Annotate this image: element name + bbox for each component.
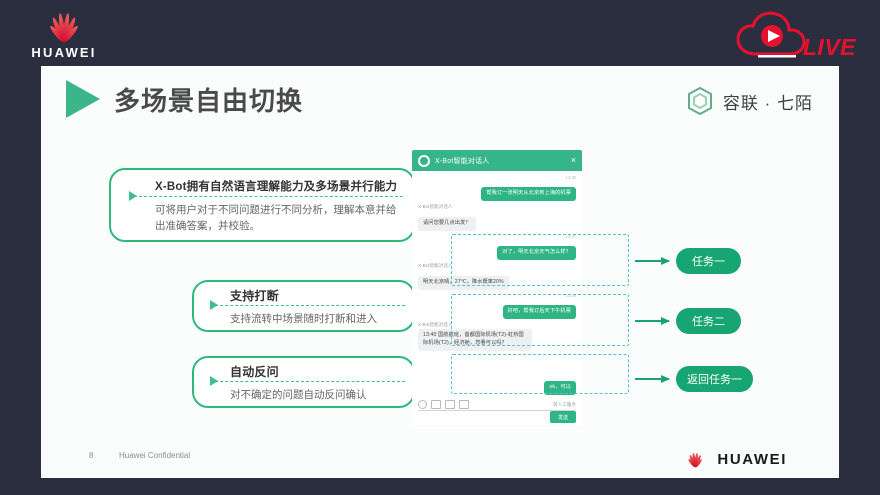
feature-card-1: X-Bot拥有自然语言理解能力及多场景并行能力 可将用户对于不同问题进行不同分析… bbox=[109, 168, 415, 242]
dashed-divider bbox=[210, 305, 405, 306]
image-icon[interactable] bbox=[431, 400, 441, 409]
emoji-icon[interactable] bbox=[418, 400, 427, 409]
message-timestamp: 13:37 bbox=[418, 234, 576, 239]
chat-title: X-Bot智能对话人 bbox=[435, 156, 571, 166]
chat-input-area: ok，可以 转人工服务 发送 bbox=[412, 371, 582, 425]
quick-reply-bubble: ok，可以 bbox=[544, 381, 576, 395]
flow-item-2: 任务二 bbox=[635, 308, 741, 334]
chat-message-bot: X-Bot智能对话人 明天北京晴，27℃，降水概率20% bbox=[418, 263, 576, 290]
slide-title-row: 多场景自由切换 bbox=[66, 80, 303, 118]
page-title: 多场景自由切换 bbox=[114, 81, 303, 118]
chat-header: X-Bot智能对话人 × bbox=[412, 150, 582, 171]
close-icon[interactable]: × bbox=[571, 156, 576, 165]
chat-message-bot: X-Bot智能对话人 13:40 国航航班，首都国际机场(T2)-虹桥国际机场(… bbox=[418, 322, 576, 351]
message-sender: X-Bot智能对话人 bbox=[418, 322, 576, 328]
task-pill: 返回任务一 bbox=[676, 366, 753, 392]
live-wordmark: LIVE bbox=[803, 34, 856, 61]
message-bubble: 好吧，帮我订后天下午机票 bbox=[503, 305, 576, 319]
chat-message-user: 13:37 对了，明天北京天气怎么样？ bbox=[418, 234, 576, 260]
huawei-logo-bottom: HUAWEI bbox=[680, 451, 787, 468]
feature-card-2: 支持打断 支持流转中场景随时打断和进入 bbox=[192, 280, 415, 332]
transfer-to-agent-link[interactable]: 转人工服务 bbox=[553, 402, 576, 408]
chat-mockup: X-Bot智能对话人 × 13:36 帮我订一张明天从北京到上海的机票 X-Bo… bbox=[412, 150, 582, 425]
video-icon[interactable] bbox=[459, 400, 469, 409]
chat-message-user: 13:38 好吧，帮我订后天下午机票 bbox=[418, 293, 576, 319]
quick-reply-row: ok，可以 bbox=[418, 375, 576, 395]
feature-body: 可将用户对于不同问题进行不同分析，理解本意并给出准确答案，并校验。 bbox=[155, 202, 397, 235]
confidential-note: Huawei Confidential bbox=[119, 451, 190, 460]
send-button[interactable]: 发送 bbox=[550, 411, 576, 423]
huawei-flower-icon bbox=[34, 12, 94, 42]
task-pill: 任务一 bbox=[676, 248, 741, 274]
message-bubble: 对了，明天北京天气怎么样？ bbox=[497, 246, 576, 260]
chat-message-list[interactable]: 13:36 帮我订一张明天从北京到上海的机票 X-Bot智能对话人 请问您要几点… bbox=[412, 171, 582, 371]
feature-body: 对不确定的问题自动反问确认 bbox=[230, 387, 397, 403]
feature-body: 支持流转中场景随时打断和进入 bbox=[230, 311, 397, 327]
message-sender: X-Bot智能对话人 bbox=[418, 263, 576, 269]
slide-deck: HUAWEI LIVE 多场景自由切换 容联 · 七陌 X-Bot拥有自然语言理… bbox=[0, 0, 880, 495]
bot-avatar-icon bbox=[418, 155, 430, 167]
flow-item-1: 任务一 bbox=[635, 248, 741, 274]
feature-title: X-Bot拥有自然语言理解能力及多场景并行能力 bbox=[155, 178, 397, 194]
message-timestamp: 13:36 bbox=[418, 175, 576, 180]
feature-title: 自动反问 bbox=[230, 363, 279, 380]
feature-card-3: 自动反问 对不确定的问题自动反问确认 bbox=[192, 356, 415, 408]
hexagon-logo-icon bbox=[686, 86, 714, 116]
dashed-divider bbox=[129, 196, 403, 197]
message-bubble: 13:40 国航航班，首都国际机场(T2)-虹桥国际机场(T2)，经济舱，您看可… bbox=[418, 329, 532, 351]
arrow-right-icon bbox=[635, 378, 669, 380]
live-logo: LIVE bbox=[728, 8, 858, 70]
chat-message-bot: X-Bot智能对话人 请问您要几点出发？ bbox=[418, 204, 576, 231]
message-timestamp: 13:38 bbox=[418, 293, 576, 298]
arrow-right-icon bbox=[635, 320, 669, 322]
feature-title: 支持打断 bbox=[230, 287, 279, 304]
arrow-right-icon bbox=[635, 260, 669, 262]
slide-canvas: 多场景自由切换 容联 · 七陌 X-Bot拥有自然语言理解能力及多场景并行能力 … bbox=[41, 66, 839, 478]
message-bubble: 明天北京晴，27℃，降水概率20% bbox=[418, 276, 509, 290]
chat-message-user: 13:36 帮我订一张明天从北京到上海的机票 bbox=[418, 175, 576, 201]
partner-brand-label: 容联 · 七陌 bbox=[723, 89, 813, 114]
message-bubble: 请问您要几点出发？ bbox=[418, 217, 476, 231]
triangle-bullet-icon bbox=[66, 80, 100, 118]
flow-item-3: 返回任务一 bbox=[635, 366, 753, 392]
message-bubble: 帮我订一张明天从北京到上海的机票 bbox=[481, 187, 576, 201]
partner-brand: 容联 · 七陌 bbox=[686, 86, 813, 116]
folder-icon[interactable] bbox=[445, 400, 455, 409]
message-sender: X-Bot智能对话人 bbox=[418, 204, 576, 210]
huawei-logo-top: HUAWEI bbox=[22, 12, 106, 64]
task-pill: 任务二 bbox=[676, 308, 741, 334]
page-number: 8 bbox=[89, 451, 93, 460]
dashed-divider bbox=[210, 381, 405, 382]
chat-toolbar: 转人工服务 bbox=[418, 399, 576, 411]
huawei-flower-icon bbox=[680, 452, 710, 467]
huawei-wordmark-top: HUAWEI bbox=[22, 45, 106, 60]
huawei-wordmark-bottom: HUAWEI bbox=[717, 451, 787, 468]
